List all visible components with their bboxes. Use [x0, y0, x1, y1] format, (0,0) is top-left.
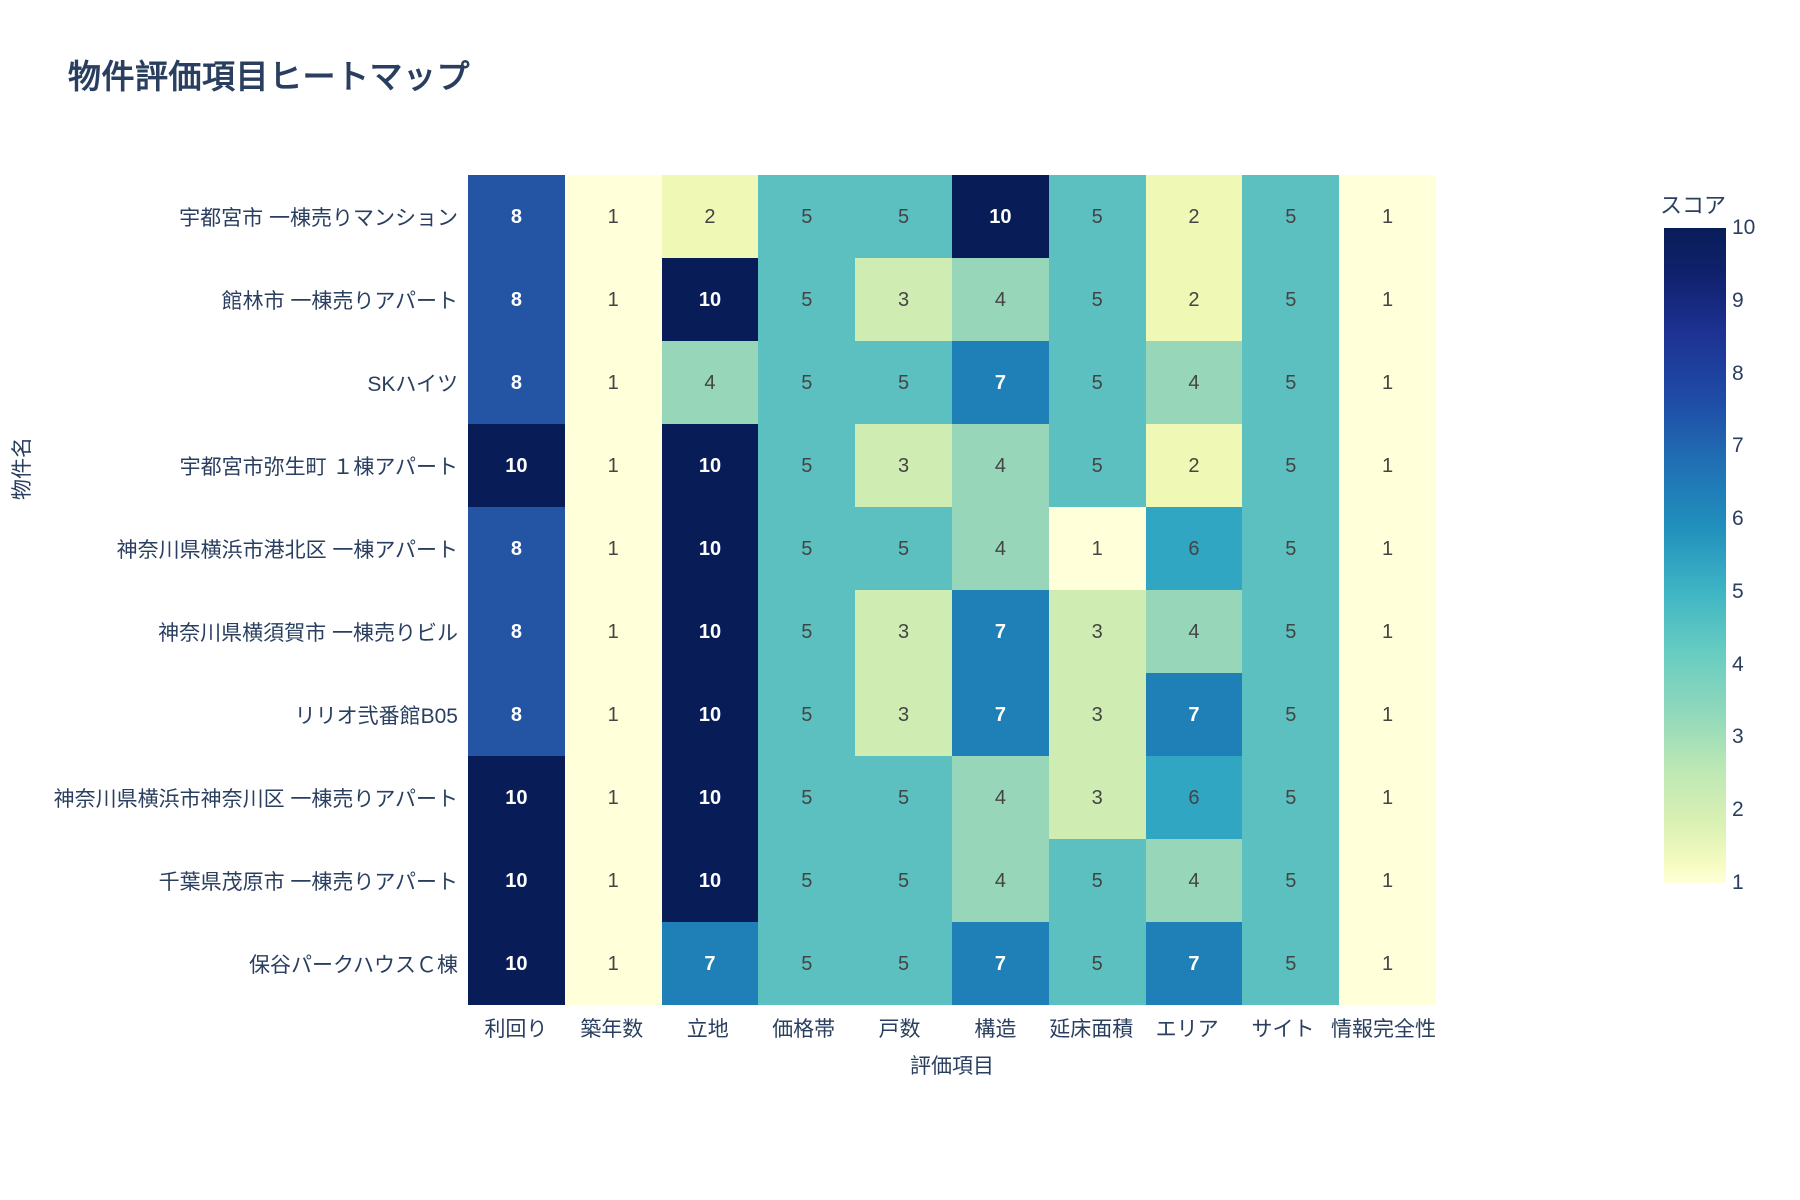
heatmap-cell[interactable]: 1 — [565, 175, 662, 258]
colorbar-tick-label: 9 — [1732, 289, 1744, 313]
heatmap-cell[interactable]: 2 — [1146, 258, 1243, 341]
x-axis-tick-label: 延床面積 — [1043, 1008, 1139, 1048]
heatmap-cell-value: 5 — [898, 954, 909, 974]
heatmap-cell[interactable]: 8 — [468, 673, 565, 756]
heatmap-cell-value: 5 — [1092, 954, 1103, 974]
heatmap-cell[interactable]: 8 — [468, 590, 565, 673]
colorbar-tick-label: 10 — [1732, 216, 1755, 240]
y-axis-tick-label-text: 神奈川県横須賀市 一棟売りビル — [158, 617, 458, 647]
colorbar-tick-label: 2 — [1732, 798, 1744, 822]
x-axis-tick-label: サイト — [1235, 1008, 1331, 1048]
x-axis-tick-label: 価格帯 — [756, 1008, 852, 1048]
heatmap-cell[interactable]: 1 — [1339, 590, 1436, 673]
heatmap-cell[interactable]: 5 — [758, 507, 855, 590]
heatmap-cell-value: 1 — [1382, 622, 1393, 642]
heatmap-cell-value: 2 — [1188, 456, 1199, 476]
heatmap-cell[interactable]: 3 — [855, 258, 952, 341]
heatmap-cell[interactable]: 4 — [952, 507, 1049, 590]
heatmap-cell[interactable]: 10 — [662, 424, 759, 507]
colorbar-tick-label: 8 — [1732, 362, 1744, 386]
heatmap-cell[interactable]: 1 — [1339, 424, 1436, 507]
y-axis-tick-label-text: リリオ弐番館B05 — [295, 700, 458, 730]
x-axis-tick-labels: 利回り築年数立地価格帯戸数構造延床面積エリアサイト情報完全性 — [468, 1008, 1436, 1048]
x-axis-tick-label: 築年数 — [564, 1008, 660, 1048]
heatmap-cell[interactable]: 7 — [952, 341, 1049, 424]
heatmap-cell-value: 3 — [1092, 705, 1103, 725]
colorbar-tick-label: 5 — [1732, 580, 1744, 604]
heatmap-cell-value: 5 — [1285, 954, 1296, 974]
heatmap-cell[interactable]: 10 — [662, 258, 759, 341]
heatmap-cell[interactable]: 4 — [952, 258, 1049, 341]
y-axis-tick-label: 保谷パークハウスＣ棟 — [0, 922, 468, 1005]
heatmap-cell-value: 5 — [1092, 207, 1103, 227]
heatmap-cell[interactable]: 1 — [1339, 341, 1436, 424]
y-axis-tick-label: 宇都宮市 一棟売りマンション — [0, 175, 468, 258]
colorbar: スコア 10987654321 — [1660, 180, 1800, 920]
x-axis-tick-label: 利回り — [468, 1008, 564, 1048]
heatmap-cell-value: 5 — [801, 622, 812, 642]
heatmap-cell[interactable]: 5 — [1242, 507, 1339, 590]
heatmap-cell[interactable]: 5 — [1049, 424, 1146, 507]
heatmap-cell[interactable]: 1 — [565, 673, 662, 756]
heatmap-cell[interactable]: 10 — [662, 507, 759, 590]
x-axis-tick-label: 情報完全性 — [1331, 1008, 1436, 1048]
heatmap-cell[interactable]: 1 — [1049, 507, 1146, 590]
heatmap-cell[interactable]: 5 — [758, 258, 855, 341]
heatmap-cell[interactable]: 5 — [1242, 590, 1339, 673]
heatmap-cell-value: 10 — [699, 871, 721, 891]
heatmap-cell[interactable]: 5 — [855, 341, 952, 424]
y-axis-tick-label-text: 神奈川県横浜市港北区 一棟アパート — [117, 534, 458, 564]
heatmap-cell[interactable]: 2 — [1146, 175, 1243, 258]
heatmap-cell-value: 1 — [608, 207, 619, 227]
x-axis-title: 評価項目 — [468, 1050, 1436, 1080]
heatmap-cell-value: 1 — [608, 788, 619, 808]
heatmap-cell[interactable]: 5 — [1049, 341, 1146, 424]
heatmap-cell[interactable]: 1 — [1339, 673, 1436, 756]
heatmap-cell-value: 5 — [1285, 705, 1296, 725]
heatmap-cell-value: 1 — [1092, 539, 1103, 559]
heatmap-cell-value: 5 — [1092, 456, 1103, 476]
heatmap-cell[interactable]: 1 — [565, 258, 662, 341]
heatmap-cell-value: 1 — [608, 622, 619, 642]
heatmap-cell-value: 1 — [1382, 456, 1393, 476]
heatmap-cell-value: 1 — [608, 373, 619, 393]
y-axis-tick-label: SKハイツ — [0, 341, 468, 424]
heatmap-cell-value: 5 — [801, 954, 812, 974]
heatmap-cell[interactable]: 5 — [758, 590, 855, 673]
heatmap-cell-value: 5 — [1285, 373, 1296, 393]
heatmap-cell[interactable]: 7 — [952, 590, 1049, 673]
heatmap-cell-value: 7 — [995, 954, 1006, 974]
heatmap-cell[interactable]: 1 — [1339, 258, 1436, 341]
heatmap-cell-value: 6 — [1188, 788, 1199, 808]
heatmap-cell-value: 10 — [505, 871, 527, 891]
heatmap-cell[interactable]: 5 — [1242, 922, 1339, 1005]
y-axis-tick-label: 神奈川県横浜市港北区 一棟アパート — [0, 507, 468, 590]
heatmap-cell[interactable]: 4 — [1146, 590, 1243, 673]
colorbar-tick-label: 3 — [1732, 725, 1744, 749]
heatmap-cell-value: 5 — [898, 539, 909, 559]
heatmap-cell-value: 3 — [898, 290, 909, 310]
heatmap-cell-value: 5 — [1285, 207, 1296, 227]
heatmap-cell-value: 7 — [995, 373, 1006, 393]
x-axis-tick-label: 立地 — [660, 1008, 756, 1048]
heatmap-cell[interactable]: 10 — [468, 756, 565, 839]
heatmap-cell[interactable]: 5 — [855, 756, 952, 839]
heatmap-cell-value: 5 — [898, 871, 909, 891]
heatmap-cell-value: 4 — [995, 788, 1006, 808]
heatmap-cell[interactable]: 3 — [855, 590, 952, 673]
y-axis-tick-label-text: 千葉県茂原市 一棟売りアパート — [159, 866, 458, 896]
colorbar-gradient — [1664, 228, 1726, 883]
heatmap-cell-value: 5 — [801, 871, 812, 891]
heatmap-cell[interactable]: 1 — [565, 756, 662, 839]
heatmap-cell-value: 10 — [505, 788, 527, 808]
heatmap-cell-value: 4 — [995, 871, 1006, 891]
heatmap-cell-value: 5 — [801, 290, 812, 310]
heatmap-cell-value: 7 — [995, 705, 1006, 725]
heatmap-cell-value: 3 — [1092, 788, 1103, 808]
heatmap-cell[interactable]: 5 — [855, 922, 952, 1005]
heatmap-cell-value: 5 — [1285, 539, 1296, 559]
heatmap-cell[interactable]: 7 — [952, 922, 1049, 1005]
colorbar-tick-label: 1 — [1732, 871, 1744, 895]
heatmap-cell-value: 4 — [995, 456, 1006, 476]
heatmap-cell-value: 1 — [1382, 290, 1393, 310]
heatmap-cell-grid: 8125510525181105345251814557545110110534… — [468, 175, 1436, 1005]
heatmap-cell-value: 4 — [995, 539, 1006, 559]
heatmap-cell-value: 1 — [1382, 207, 1393, 227]
heatmap-cell[interactable]: 2 — [1146, 424, 1243, 507]
y-axis-tick-label: 神奈川県横浜市神奈川区 一棟売りアパート — [0, 756, 468, 839]
heatmap-cell[interactable]: 5 — [1242, 839, 1339, 922]
heatmap-cell[interactable]: 7 — [952, 673, 1049, 756]
heatmap-cell[interactable]: 4 — [952, 839, 1049, 922]
heatmap-cell[interactable]: 5 — [1049, 175, 1146, 258]
heatmap-cell[interactable]: 1 — [565, 839, 662, 922]
heatmap-cell[interactable]: 4 — [952, 756, 1049, 839]
y-axis-tick-label: 館林市 一棟売りアパート — [0, 258, 468, 341]
heatmap-cell[interactable]: 1 — [1339, 175, 1436, 258]
heatmap-cell-value: 1 — [1382, 871, 1393, 891]
heatmap-cell[interactable]: 1 — [1339, 507, 1436, 590]
heatmap-cell[interactable]: 1 — [1339, 922, 1436, 1005]
heatmap-cell[interactable]: 3 — [1049, 590, 1146, 673]
x-axis-tick-label: 構造 — [947, 1008, 1043, 1048]
heatmap-cell[interactable]: 5 — [1049, 922, 1146, 1005]
heatmap-cell-value: 1 — [1382, 373, 1393, 393]
heatmap-cell[interactable]: 1 — [565, 922, 662, 1005]
heatmap-cell-value: 1 — [1382, 788, 1393, 808]
y-axis-tick-label-text: SKハイツ — [367, 368, 458, 398]
heatmap-cell-value: 8 — [511, 290, 522, 310]
heatmap-cell-value: 4 — [995, 290, 1006, 310]
heatmap-cell-value: 5 — [1285, 622, 1296, 642]
heatmap-cell[interactable]: 5 — [758, 341, 855, 424]
heatmap-cell-value: 5 — [801, 705, 812, 725]
heatmap-cell[interactable]: 5 — [855, 175, 952, 258]
heatmap-cell-value: 8 — [511, 622, 522, 642]
heatmap-cell[interactable]: 5 — [758, 424, 855, 507]
heatmap-cell[interactable]: 1 — [565, 590, 662, 673]
heatmap-cell[interactable]: 5 — [855, 507, 952, 590]
x-axis-tick-label: エリア — [1139, 1008, 1235, 1048]
y-axis-tick-label: 千葉県茂原市 一棟売りアパート — [0, 839, 468, 922]
y-axis-tick-labels: 宇都宮市 一棟売りマンション館林市 一棟売りアパートSKハイツ宇都宮市弥生町 １… — [0, 175, 468, 1005]
y-axis-tick-label: リリオ弐番館B05 — [0, 673, 468, 756]
heatmap-cell-value: 2 — [1188, 207, 1199, 227]
heatmap-cell[interactable]: 1 — [1339, 839, 1436, 922]
heatmap-cell[interactable]: 4 — [952, 424, 1049, 507]
heatmap-cell-value: 3 — [898, 622, 909, 642]
heatmap-cell[interactable]: 5 — [855, 839, 952, 922]
heatmap-cell-value: 5 — [1285, 788, 1296, 808]
heatmap-cell[interactable]: 10 — [662, 590, 759, 673]
heatmap-cell-value: 10 — [505, 954, 527, 974]
heatmap-cell-value: 5 — [801, 539, 812, 559]
heatmap-cell-value: 8 — [511, 373, 522, 393]
heatmap-cell-value: 7 — [1188, 705, 1199, 725]
heatmap-cell-value: 1 — [608, 456, 619, 476]
y-axis-tick-label-text: 宇都宮市 一棟売りマンション — [179, 202, 458, 232]
heatmap-cell-value: 3 — [1092, 622, 1103, 642]
heatmap-cell[interactable]: 5 — [1242, 424, 1339, 507]
heatmap-cell[interactable]: 1 — [565, 341, 662, 424]
y-axis-tick-label-text: 神奈川県横浜市神奈川区 一棟売りアパート — [54, 783, 458, 813]
heatmap-cell-value: 10 — [505, 456, 527, 476]
heatmap-figure: 物件評価項目ヒートマップ 物件名 宇都宮市 一棟売りマンション館林市 一棟売りア… — [0, 0, 1800, 1200]
heatmap-cell[interactable]: 10 — [662, 673, 759, 756]
heatmap-cell-value: 8 — [511, 705, 522, 725]
heatmap-cell[interactable]: 5 — [758, 922, 855, 1005]
heatmap-cell-value: 5 — [898, 207, 909, 227]
heatmap-cell-value: 5 — [801, 788, 812, 808]
heatmap-cell[interactable]: 5 — [758, 756, 855, 839]
heatmap-cell[interactable]: 7 — [1146, 922, 1243, 1005]
heatmap-cell[interactable]: 5 — [758, 839, 855, 922]
heatmap-cell-value: 5 — [1092, 290, 1103, 310]
heatmap-cell[interactable]: 4 — [662, 341, 759, 424]
heatmap-cell[interactable]: 7 — [662, 922, 759, 1005]
heatmap-cell-value: 5 — [801, 373, 812, 393]
heatmap-cell-value: 1 — [608, 954, 619, 974]
heatmap-cell[interactable]: 10 — [662, 756, 759, 839]
colorbar-tick-label: 7 — [1732, 434, 1744, 458]
heatmap-cell-value: 1 — [1382, 954, 1393, 974]
heatmap-cell-value: 4 — [1188, 622, 1199, 642]
heatmap-cell-value: 5 — [1092, 871, 1103, 891]
heatmap-cell-value: 4 — [1188, 871, 1199, 891]
heatmap-cell[interactable]: 6 — [1146, 756, 1243, 839]
heatmap-cell-value: 3 — [898, 456, 909, 476]
heatmap-cell-value: 10 — [699, 788, 721, 808]
x-axis-tick-label: 戸数 — [852, 1008, 948, 1048]
heatmap-cell[interactable]: 10 — [662, 839, 759, 922]
y-axis-tick-label: 宇都宮市弥生町 １棟アパート — [0, 424, 468, 507]
heatmap-cell[interactable]: 1 — [1339, 756, 1436, 839]
heatmap-cell[interactable]: 8 — [468, 258, 565, 341]
heatmap-cell[interactable]: 5 — [758, 175, 855, 258]
heatmap-cell[interactable]: 1 — [565, 424, 662, 507]
heatmap-cell[interactable]: 2 — [662, 175, 759, 258]
heatmap-cell-value: 1 — [1382, 705, 1393, 725]
heatmap-cell[interactable]: 10 — [468, 839, 565, 922]
y-axis-tick-label-text: 宇都宮市弥生町 １棟アパート — [180, 451, 458, 481]
heatmap-cell-value: 7 — [1188, 954, 1199, 974]
heatmap-cell[interactable]: 8 — [468, 175, 565, 258]
y-axis-tick-label: 神奈川県横須賀市 一棟売りビル — [0, 590, 468, 673]
heatmap-cell-value: 1 — [608, 871, 619, 891]
heatmap-cell[interactable]: 5 — [1242, 258, 1339, 341]
heatmap-cell[interactable]: 8 — [468, 341, 565, 424]
colorbar-tick-label: 4 — [1732, 653, 1744, 677]
heatmap-cell-value: 10 — [699, 539, 721, 559]
heatmap-cell[interactable]: 4 — [1146, 341, 1243, 424]
heatmap-cell[interactable]: 5 — [1049, 839, 1146, 922]
heatmap-cell-value: 5 — [1285, 871, 1296, 891]
heatmap-cell-value: 1 — [608, 539, 619, 559]
heatmap-cell-value: 1 — [1382, 539, 1393, 559]
heatmap-cell-value: 10 — [989, 207, 1011, 227]
heatmap-cell-value: 10 — [699, 456, 721, 476]
heatmap-cell-value: 6 — [1188, 539, 1199, 559]
y-axis-tick-label-text: 館林市 一棟売りアパート — [222, 285, 458, 315]
heatmap-cell[interactable]: 6 — [1146, 507, 1243, 590]
heatmap-cell-value: 5 — [1285, 456, 1296, 476]
heatmap-cell[interactable]: 8 — [468, 507, 565, 590]
page-title: 物件評価項目ヒートマップ — [68, 50, 470, 98]
heatmap-cell[interactable]: 1 — [565, 507, 662, 590]
heatmap-cell[interactable]: 10 — [468, 424, 565, 507]
heatmap-cell-value: 3 — [898, 705, 909, 725]
heatmap-cell[interactable]: 3 — [1049, 756, 1146, 839]
heatmap-cell-value: 5 — [1092, 373, 1103, 393]
heatmap-cell-value: 1 — [608, 705, 619, 725]
heatmap-cell[interactable]: 3 — [1049, 673, 1146, 756]
heatmap-cell-value: 5 — [801, 207, 812, 227]
heatmap-cell[interactable]: 5 — [1242, 756, 1339, 839]
heatmap-cell-value: 4 — [1188, 373, 1199, 393]
heatmap-cell[interactable]: 4 — [1146, 839, 1243, 922]
heatmap-cell-value: 2 — [704, 207, 715, 227]
heatmap-cell[interactable]: 5 — [1242, 673, 1339, 756]
heatmap-cell[interactable]: 5 — [1242, 341, 1339, 424]
heatmap-cell-value: 5 — [801, 456, 812, 476]
heatmap-cell-value: 5 — [898, 373, 909, 393]
heatmap-plot-area: 8125510525181105345251814557545110110534… — [468, 175, 1436, 1005]
heatmap-cell-value: 5 — [1285, 290, 1296, 310]
colorbar-title: スコア — [1660, 188, 1726, 220]
heatmap-cell-value: 10 — [699, 705, 721, 725]
heatmap-cell[interactable]: 10 — [468, 922, 565, 1005]
heatmap-cell[interactable]: 5 — [1049, 258, 1146, 341]
heatmap-cell[interactable]: 5 — [758, 673, 855, 756]
y-axis-tick-label-text: 保谷パークハウスＣ棟 — [249, 949, 458, 979]
heatmap-cell[interactable]: 3 — [855, 424, 952, 507]
colorbar-tick-label: 6 — [1732, 507, 1744, 531]
heatmap-cell-value: 5 — [898, 788, 909, 808]
heatmap-cell[interactable]: 3 — [855, 673, 952, 756]
heatmap-cell-value: 2 — [1188, 290, 1199, 310]
heatmap-cell-value: 8 — [511, 539, 522, 559]
heatmap-cell-value: 8 — [511, 207, 522, 227]
heatmap-cell-value: 10 — [699, 290, 721, 310]
heatmap-cell[interactable]: 5 — [1242, 175, 1339, 258]
heatmap-cell-value: 1 — [608, 290, 619, 310]
heatmap-cell-value: 7 — [995, 622, 1006, 642]
heatmap-cell-value: 4 — [704, 373, 715, 393]
heatmap-cell[interactable]: 7 — [1146, 673, 1243, 756]
heatmap-cell[interactable]: 10 — [952, 175, 1049, 258]
heatmap-cell-value: 10 — [699, 622, 721, 642]
heatmap-cell-value: 7 — [704, 954, 715, 974]
